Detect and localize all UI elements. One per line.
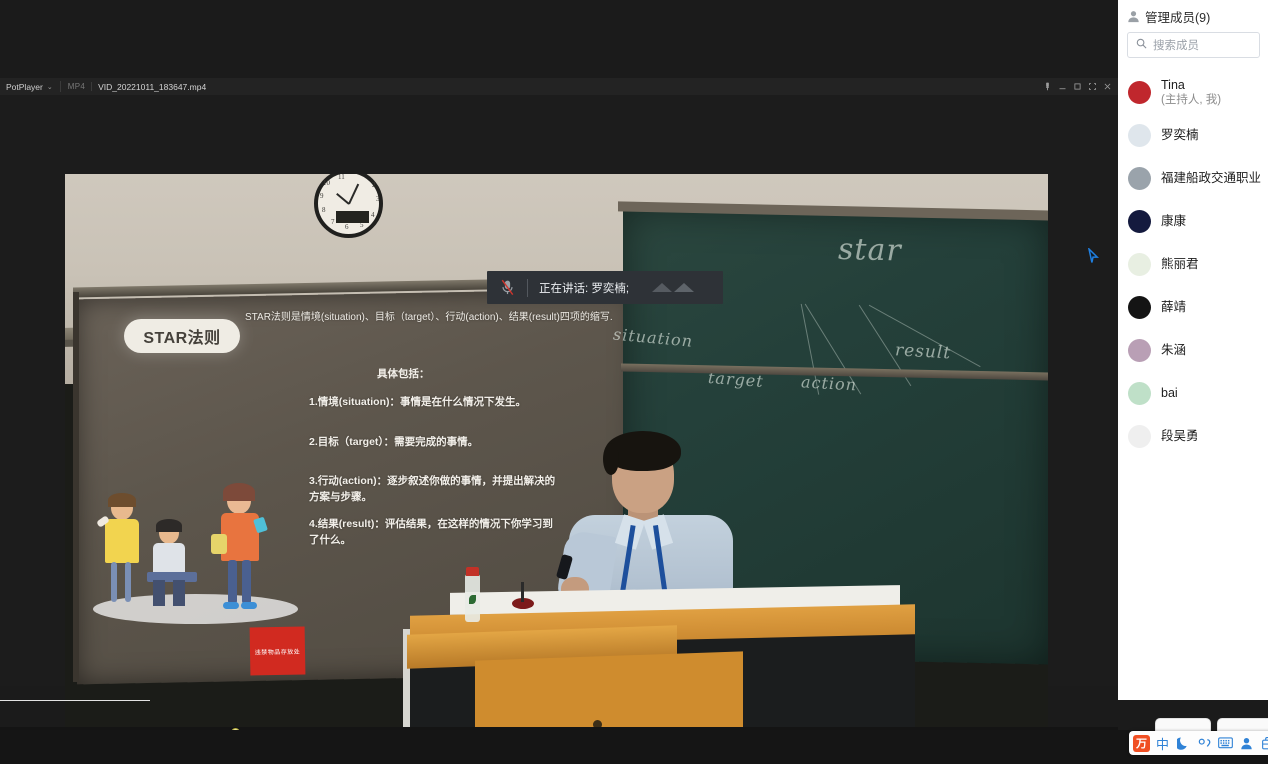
participant-row[interactable]: 朱涵 xyxy=(1118,329,1268,372)
screen-root: PotPlayer ⌄ MP4 VID_20221011_183647.mp4 xyxy=(0,0,1268,764)
mic-muted-icon[interactable] xyxy=(487,271,527,304)
maximize-icon[interactable] xyxy=(1070,78,1085,95)
avatar xyxy=(1128,339,1151,362)
participant-names: Tina(主持人, 我) xyxy=(1161,78,1221,108)
participant-name: 朱涵 xyxy=(1161,343,1186,359)
avatar xyxy=(1128,210,1151,233)
ime-toolbar: 万 中 xyxy=(1129,731,1268,755)
person-icon[interactable] xyxy=(1236,731,1257,755)
pin-icon[interactable] xyxy=(1040,78,1055,95)
minimize-icon[interactable] xyxy=(1055,78,1070,95)
chalk-word-result: result xyxy=(895,340,952,363)
panel-bottom-divider xyxy=(0,700,150,701)
ime-mode-button[interactable]: 中 xyxy=(1152,731,1173,755)
avatar xyxy=(1128,296,1151,319)
ime-logo-label: 万 xyxy=(1133,735,1150,752)
slide-intro-text: STAR法则是情境(situation)、目标（target）、行动(actio… xyxy=(245,310,617,326)
participants-title: 管理成员(9) xyxy=(1145,7,1210,26)
participant-row[interactable]: Tina(主持人, 我) xyxy=(1118,71,1268,114)
clock-digital-window xyxy=(336,211,369,223)
avatar xyxy=(1128,167,1151,190)
desk-body xyxy=(475,651,743,727)
participant-names: bai xyxy=(1161,386,1178,402)
video-canvas[interactable]: 2 3 4 5 6 7 8 9 10 11 STAR法则 xyxy=(65,174,1048,727)
person-icon xyxy=(1127,10,1140,23)
bottle-cap xyxy=(466,567,479,576)
slide-bullet-4: 4.结果(result)：评估结果，在这样的情况下你学习到了什么。 xyxy=(309,516,559,549)
slide-section-label: 具体包括： xyxy=(377,366,430,381)
participant-name: 熊丽君 xyxy=(1161,257,1199,273)
participant-names: 薛靖 xyxy=(1161,300,1186,316)
avatar xyxy=(1128,124,1151,147)
potplayer-window: PotPlayer ⌄ MP4 VID_20221011_183647.mp4 xyxy=(0,78,1118,686)
participant-names: 熊丽君 xyxy=(1161,257,1199,273)
illustration-figure-2 xyxy=(143,522,205,610)
wall-sign-label: 违禁物品存放处 xyxy=(255,646,301,656)
ime-logo-button[interactable]: 万 xyxy=(1131,731,1152,755)
chalk-word-situation: situation xyxy=(612,325,693,351)
participant-row[interactable]: 薛靖 xyxy=(1118,286,1268,329)
avatar xyxy=(1128,382,1151,405)
participant-row[interactable]: 康康 xyxy=(1118,200,1268,243)
avatar xyxy=(1128,253,1151,276)
speaking-label: 正在讲话: 罗奕楠; xyxy=(528,280,629,296)
potplayer-brand-label: PotPlayer xyxy=(6,82,43,92)
slide-bullet-1: 1.情境(situation)：事情是在什么情况下发生。 xyxy=(309,394,559,410)
slide-bullet-2: 2.目标（target）：需要完成的事情。 xyxy=(309,434,559,450)
participant-name: 薛靖 xyxy=(1161,300,1186,316)
bottle-leaf-logo xyxy=(469,595,476,604)
projector-screen-left-edge xyxy=(73,292,79,682)
participant-row[interactable]: 罗奕楠 xyxy=(1118,114,1268,157)
search-placeholder: 搜索成员 xyxy=(1153,37,1199,53)
filename-label: VID_20221011_183647.mp4 xyxy=(98,82,206,92)
participant-name: 福建船政交通职业 xyxy=(1161,171,1261,187)
chevron-collapse-icon[interactable] xyxy=(643,271,715,304)
file-format-label: MP4 xyxy=(68,82,85,91)
participants-header: 管理成员(9) xyxy=(1118,0,1268,32)
participant-name: 康康 xyxy=(1161,214,1186,230)
participant-names: 段吴勇 xyxy=(1161,429,1199,445)
toolbox-icon[interactable] xyxy=(1257,731,1268,755)
avatar xyxy=(1128,81,1151,104)
comma-icon[interactable] xyxy=(1194,731,1215,755)
participant-row[interactable]: 熊丽君 xyxy=(1118,243,1268,286)
chevron-down-icon[interactable]: ⌄ xyxy=(47,83,53,91)
participant-name: bai xyxy=(1161,386,1178,402)
close-icon[interactable] xyxy=(1100,78,1115,95)
microphone-stem xyxy=(521,582,524,602)
participant-role: (主持人, 我) xyxy=(1161,93,1221,107)
moon-icon[interactable] xyxy=(1173,731,1194,755)
participant-row[interactable]: 段吴勇 xyxy=(1118,415,1268,458)
titlebar-divider-2 xyxy=(91,82,92,91)
illustration-figure-3 xyxy=(211,484,275,610)
clock-numerals: 2 3 4 5 6 7 8 9 10 11 xyxy=(318,174,379,234)
participant-row[interactable]: bai xyxy=(1118,372,1268,415)
participant-names: 罗奕楠 xyxy=(1161,128,1199,144)
participant-name: 段吴勇 xyxy=(1161,429,1199,445)
slide-illustration xyxy=(87,474,309,639)
titlebar-divider xyxy=(60,81,61,92)
participant-name: 罗奕楠 xyxy=(1161,128,1199,144)
speaking-overlay[interactable]: 正在讲话: 罗奕楠; xyxy=(487,271,723,304)
ime-mode-label: 中 xyxy=(1156,734,1169,753)
search-input[interactable]: 搜索成员 xyxy=(1127,32,1260,58)
taskbar: 罗奕楠的屏幕共享 xyxy=(0,730,1268,764)
participants-panel: 管理成员(9) 搜索成员 Tina(主持人, 我)罗奕楠福建船政交通职业康康熊丽… xyxy=(1118,0,1268,700)
arrow-cursor xyxy=(1088,248,1099,269)
participant-name: Tina xyxy=(1161,78,1221,94)
participant-names: 朱涵 xyxy=(1161,343,1186,359)
participant-row[interactable]: 福建船政交通职业 xyxy=(1118,157,1268,200)
keyboard-icon[interactable] xyxy=(1215,731,1236,755)
wall-sign: 违禁物品存放处 xyxy=(250,627,306,676)
desk-knob xyxy=(593,720,602,727)
slide-bullet-3: 3.行动(action)：逐步叙述你做的事情，并提出解决的方案与步骤。 xyxy=(309,473,559,506)
participant-names: 福建船政交通职业 xyxy=(1161,171,1261,187)
wall-clock-icon: 2 3 4 5 6 7 8 9 10 11 xyxy=(314,174,383,238)
chalk-word-star: star xyxy=(838,232,902,268)
restore-icon[interactable] xyxy=(1085,78,1100,95)
participant-names: 康康 xyxy=(1161,214,1186,230)
window-controls xyxy=(1040,78,1115,95)
participants-list: Tina(主持人, 我)罗奕楠福建船政交通职业康康熊丽君薛靖朱涵bai段吴勇 xyxy=(1118,71,1268,458)
illustration-figure-1 xyxy=(97,496,149,608)
search-icon xyxy=(1136,36,1147,54)
potplayer-titlebar[interactable]: PotPlayer ⌄ MP4 VID_20221011_183647.mp4 xyxy=(0,78,1118,95)
search-container: 搜索成员 xyxy=(1118,32,1268,58)
avatar xyxy=(1128,425,1151,448)
slide-title-pill: STAR法则 xyxy=(124,319,240,353)
